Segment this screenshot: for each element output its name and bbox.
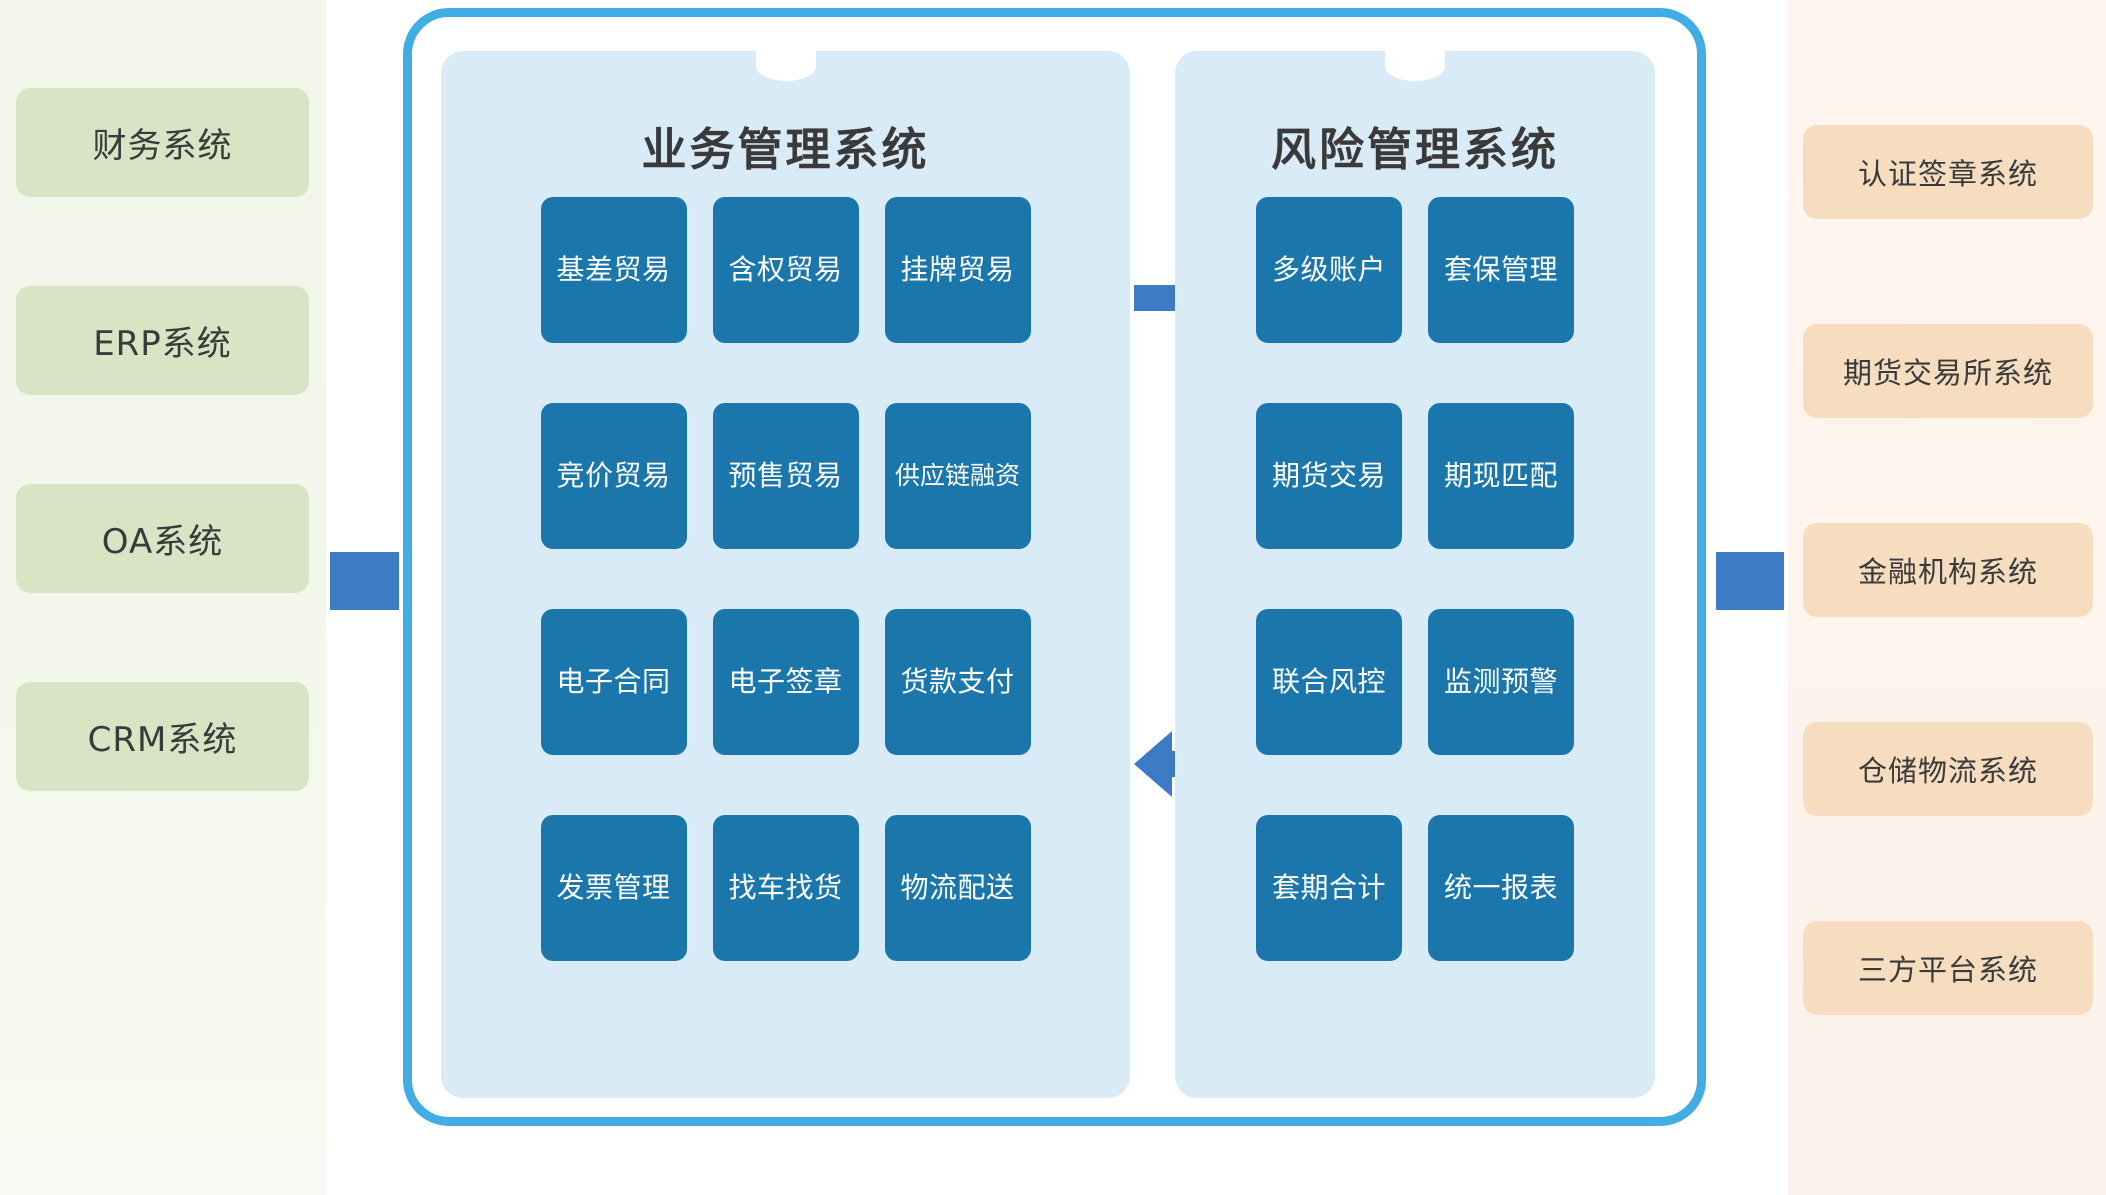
business-tile-3[interactable]: 竞价贸易 [541, 403, 687, 549]
right-system-label: 三方平台系统 [1858, 947, 2038, 989]
business-tile-6[interactable]: 电子合同 [541, 609, 687, 755]
business-tile-5[interactable]: 供应链融资 [885, 403, 1031, 549]
panel-notch-icon [1385, 51, 1445, 81]
right-system-item-0[interactable]: 认证签章系统 [1803, 125, 2093, 219]
right-system-label: 金融机构系统 [1858, 549, 2038, 591]
platform-card: 业务管理系统 基差贸易 含权贸易 挂牌贸易 竞价贸易 预售贸易 供应链融资 电子… [403, 8, 1706, 1126]
business-tile-9[interactable]: 发票管理 [541, 815, 687, 961]
risk-tile-4[interactable]: 联合风控 [1256, 609, 1402, 755]
right-system-item-4[interactable]: 三方平台系统 [1803, 921, 2093, 1015]
right-external-systems-panel: 认证签章系统 期货交易所系统 金融机构系统 仓储物流系统 三方平台系统 [1788, 0, 2106, 1195]
left-system-label: ERP系统 [93, 316, 232, 365]
right-system-label: 仓储物流系统 [1858, 748, 2038, 790]
right-system-item-1[interactable]: 期货交易所系统 [1803, 324, 2093, 418]
left-system-item-1[interactable]: ERP系统 [16, 286, 309, 395]
risk-tile-6[interactable]: 套期合计 [1256, 815, 1402, 961]
left-system-label: 财务系统 [93, 118, 233, 167]
right-system-item-2[interactable]: 金融机构系统 [1803, 523, 2093, 617]
business-tile-10[interactable]: 找车找货 [713, 815, 859, 961]
left-system-item-0[interactable]: 财务系统 [16, 88, 309, 197]
risk-panel-title: 风险管理系统 [1175, 113, 1655, 178]
business-tile-1[interactable]: 含权贸易 [713, 197, 859, 343]
right-connector-block [1716, 552, 1784, 610]
business-tile-11[interactable]: 物流配送 [885, 815, 1031, 961]
risk-tile-5[interactable]: 监测预警 [1428, 609, 1574, 755]
risk-tile-grid: 多级账户 套保管理 期货交易 期现匹配 联合风控 监测预警 套期合计 统一报表 [1175, 197, 1655, 961]
business-tile-grid: 基差贸易 含权贸易 挂牌贸易 竞价贸易 预售贸易 供应链融资 电子合同 电子签章… [441, 197, 1130, 961]
risk-management-panel: 风险管理系统 多级账户 套保管理 期货交易 期现匹配 联合风控 监测预警 套期合… [1175, 51, 1655, 1098]
risk-tile-2[interactable]: 期货交易 [1256, 403, 1402, 549]
left-system-label: OA系统 [102, 514, 223, 563]
business-management-panel: 业务管理系统 基差贸易 含权贸易 挂牌贸易 竞价贸易 预售贸易 供应链融资 电子… [441, 51, 1130, 1098]
right-system-item-3[interactable]: 仓储物流系统 [1803, 722, 2093, 816]
left-system-item-3[interactable]: CRM系统 [16, 682, 309, 791]
business-panel-title: 业务管理系统 [441, 113, 1130, 178]
right-system-label: 认证签章系统 [1858, 151, 2038, 193]
business-tile-4[interactable]: 预售贸易 [713, 403, 859, 549]
business-tile-7[interactable]: 电子签章 [713, 609, 859, 755]
left-connector-block [330, 552, 399, 610]
business-tile-8[interactable]: 货款支付 [885, 609, 1031, 755]
left-system-item-2[interactable]: OA系统 [16, 484, 309, 593]
left-external-systems-panel: 财务系统 ERP系统 OA系统 CRM系统 [0, 0, 326, 1195]
risk-tile-0[interactable]: 多级账户 [1256, 197, 1402, 343]
left-system-label: CRM系统 [88, 712, 238, 761]
right-system-label: 期货交易所系统 [1843, 350, 2053, 392]
business-tile-0[interactable]: 基差贸易 [541, 197, 687, 343]
risk-tile-1[interactable]: 套保管理 [1428, 197, 1574, 343]
risk-tile-7[interactable]: 统一报表 [1428, 815, 1574, 961]
business-tile-2[interactable]: 挂牌贸易 [885, 197, 1031, 343]
risk-tile-3[interactable]: 期现匹配 [1428, 403, 1574, 549]
panel-notch-icon [756, 51, 816, 81]
